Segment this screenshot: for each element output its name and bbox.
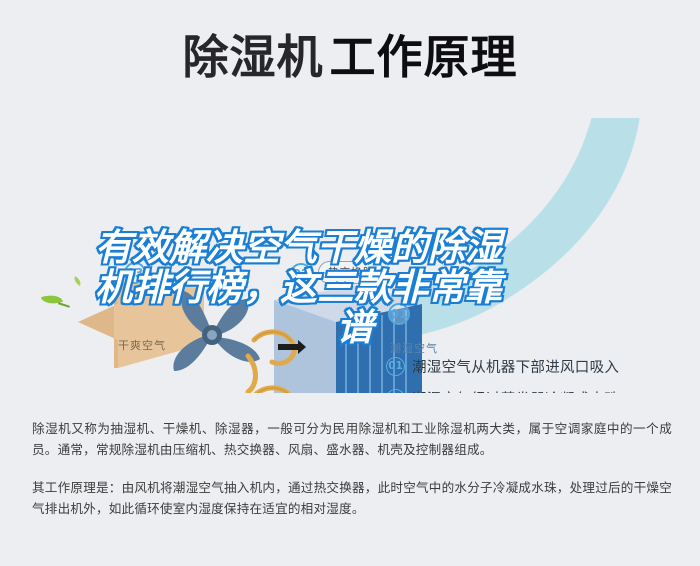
diagram-marker-01: 01	[388, 303, 410, 325]
title-text: 除湿机工作原理	[0, 26, 700, 88]
legend-item: 01 潮湿空气从机器下部进风口吸入	[386, 350, 686, 382]
body-paragraph-1: 除湿机又称为抽湿机、干燥机、除湿器，一般可分为民用除湿机和工业除湿机两大类，属于…	[32, 418, 672, 460]
diagram-marker-03: 03	[124, 262, 146, 284]
legend-text-02: 潮湿空气经过蒸发器冷凝成水珠	[412, 388, 619, 394]
heat-exchanger-callout: 热交换器	[318, 261, 384, 284]
legend-text-01: 潮湿空气从机器下部进风口吸入	[412, 356, 619, 377]
legend-badge-01: 01	[386, 357, 405, 376]
infographic-page: 除湿机工作原理 干爽空气	[0, 0, 700, 566]
body-paragraph-2: 其工作原理是：由风机将潮湿空气抽入机内，通过热交换器，此时空气中的水分子冷凝成水…	[32, 477, 672, 519]
callout-tail-icon	[336, 281, 346, 290]
leaf-icon	[41, 291, 63, 308]
title-part-1: 除湿机	[183, 30, 324, 84]
leaf-stem-icon	[58, 302, 70, 307]
diagram-marker-02: 02	[290, 263, 312, 285]
title-part-2: 工作原理	[330, 30, 518, 84]
dry-air-label: 干爽空气	[118, 337, 166, 353]
legend-badge-02: 02	[386, 389, 405, 394]
airflow-swoosh-icon	[392, 118, 682, 342]
article-body: 除湿机又称为抽湿机、干燥机、除湿器，一般可分为民用除湿机和工业除湿机两大类，属于…	[32, 418, 672, 519]
dehumidifier-diagram: 干爽空气	[0, 118, 700, 393]
page-title: 除湿机工作原理	[0, 26, 700, 96]
diagram-legend: 01 潮湿空气从机器下部进风口吸入 02 潮湿空气经过蒸发器冷凝成水珠 03 从…	[386, 350, 686, 393]
legend-item: 02 潮湿空气经过蒸发器冷凝成水珠	[386, 382, 686, 393]
